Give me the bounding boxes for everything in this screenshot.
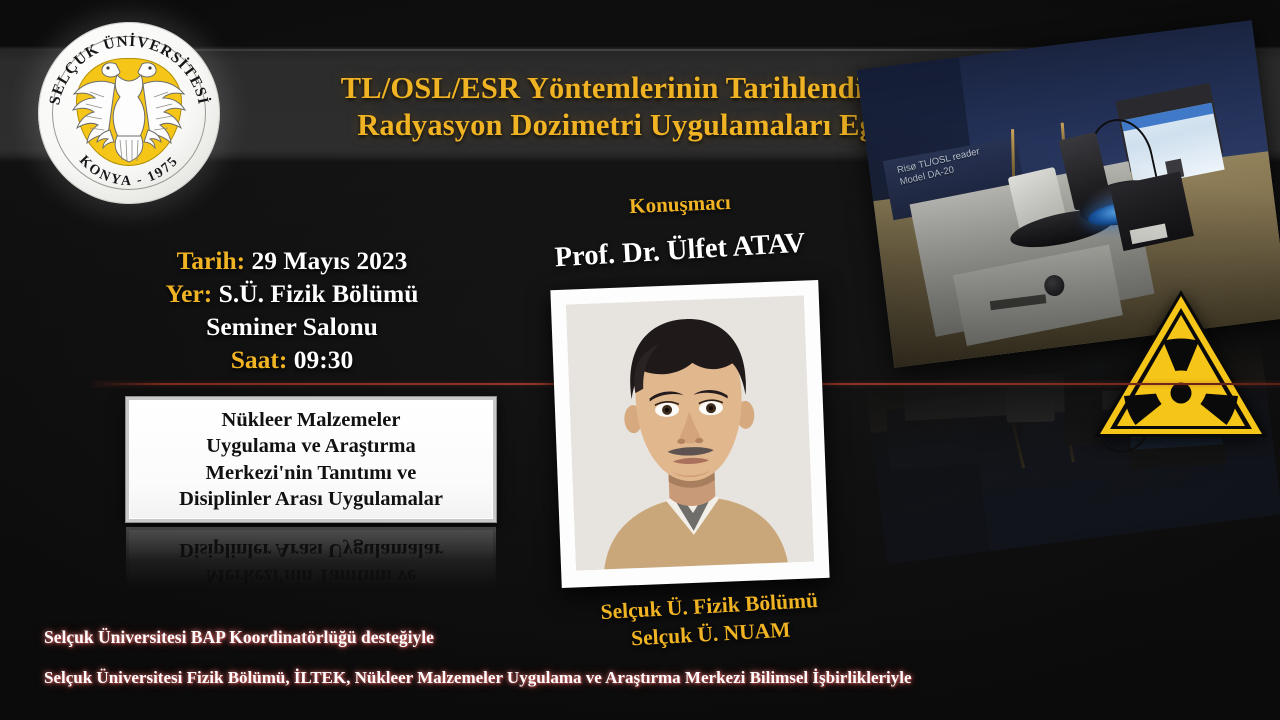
- topic-box: Nükleer Malzemeler Uygulama ve Araştırma…: [126, 397, 496, 522]
- topic-text: Nükleer Malzemeler Uygulama ve Araştırma…: [173, 407, 449, 513]
- radiation-warning-icon: [1092, 286, 1270, 441]
- event-place-row: Yer: S.Ü. Fizik Bölümü: [112, 277, 472, 310]
- event-place-row-2: Seminer Salonu: [112, 310, 472, 343]
- credit-line-2: Selçuk Üniversitesi Fizik Bölümü, İLTEK,…: [44, 668, 912, 688]
- topic-reflect-line-4: Disiplinler Arası Uygulamalar: [179, 537, 443, 564]
- event-place-label: Yer:: [166, 279, 213, 308]
- university-logo: SELÇUK ÜNİVERSİTESİ KONYA - 1975: [38, 22, 220, 204]
- event-details: Tarih: 29 Mayıs 2023 Yer: S.Ü. Fizik Böl…: [112, 244, 472, 376]
- event-place-value: S.Ü. Fizik Bölümü: [219, 279, 419, 308]
- seminar-poster: SELÇUK ÜNİVERSİTESİ KONYA - 1975 TL/OSL/…: [0, 0, 1280, 720]
- portrait-illustration: [566, 296, 814, 571]
- event-time-label: Saat:: [231, 345, 288, 374]
- event-date-row: Tarih: 29 Mayıs 2023: [112, 244, 472, 277]
- credit-line-1: Selçuk Üniversitesi BAP Koordinatörlüğü …: [44, 627, 434, 648]
- event-time-row: Saat: 09:30: [112, 343, 472, 376]
- topic-line-2: Uygulama ve Araştırma: [179, 433, 443, 460]
- event-date-value: 29 Mayıs 2023: [252, 246, 408, 275]
- topic-line-3: Merkezi'nin Tanıtımı ve: [179, 460, 443, 487]
- speaker-portrait: [566, 296, 814, 571]
- logo-top-text: SELÇUK ÜNİVERSİTESİ: [46, 33, 212, 107]
- logo-seal-text: SELÇUK ÜNİVERSİTESİ KONYA - 1975: [38, 22, 220, 204]
- topic-line-4: Disiplinler Arası Uygulamalar: [179, 486, 443, 513]
- event-date-label: Tarih:: [177, 246, 246, 275]
- speaker-photo-frame: [550, 280, 829, 588]
- topic-reflect-line-3: Merkezi'nin Tanıtımı ve: [179, 563, 443, 589]
- topic-box-reflection: Nükleer Malzemeler Uygulama ve Araştırma…: [126, 527, 496, 589]
- logo-bottom-text: KONYA - 1975: [76, 153, 182, 189]
- event-time-value: 09:30: [294, 345, 354, 374]
- topic-line-1: Nükleer Malzemeler: [179, 407, 443, 434]
